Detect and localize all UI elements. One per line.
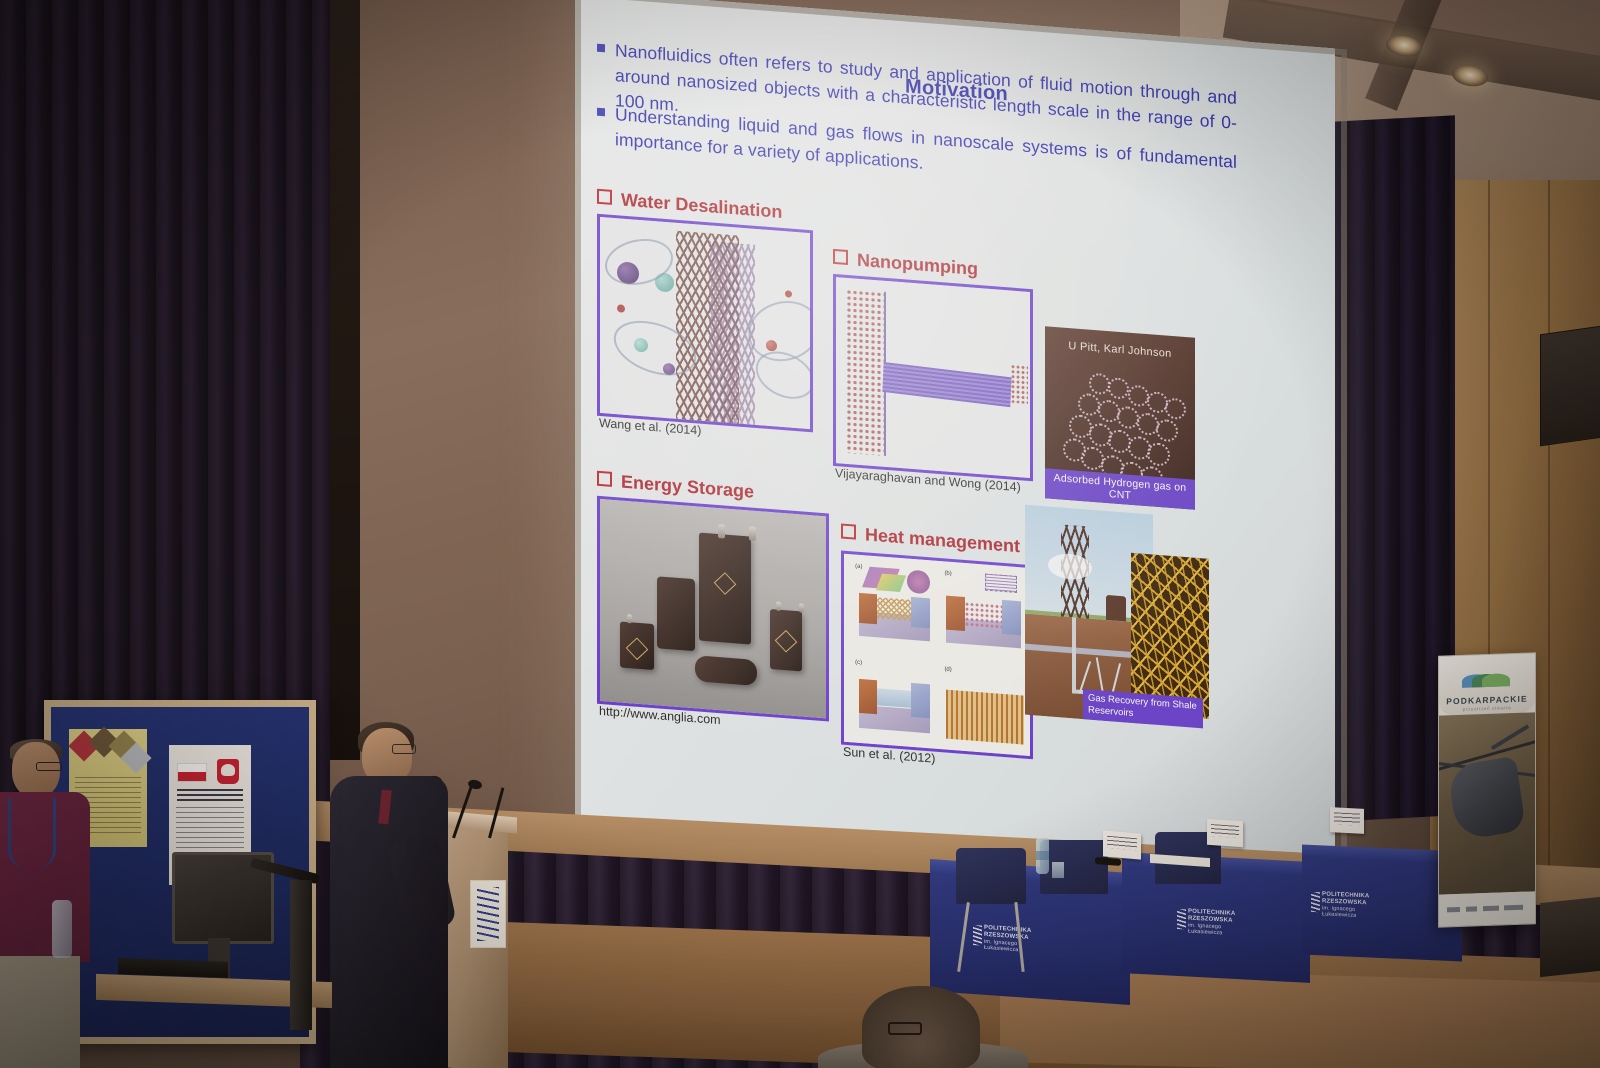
checkbox-square-icon (841, 523, 856, 539)
lectern-logo (470, 880, 506, 948)
figure-water-desalination (597, 214, 813, 433)
funding-notice-heading (177, 789, 243, 801)
checkbox-square-icon (597, 189, 612, 205)
lanyard (8, 798, 56, 868)
figure-energy-storage (597, 496, 829, 722)
supercapacitor (699, 533, 751, 645)
eyeglasses-icon (392, 744, 416, 754)
polish-flag-icon (177, 763, 207, 782)
table-logo: POLITECHNIKA RZESZOWSKA im. Ignacego Łuk… (1188, 909, 1234, 935)
equipment-pole (290, 880, 312, 1030)
panel-chair (956, 848, 1026, 904)
supercapacitor (620, 622, 654, 671)
attendee-legs (0, 956, 80, 1068)
banner-header: PODKARPACKIE przestrzeń otwarta (1439, 653, 1535, 716)
presentation-photo-scene: Motivation Nanofluidics often refers to … (0, 0, 1600, 1068)
checkbox-square-icon (597, 471, 612, 487)
panel-chair (1040, 840, 1108, 894)
supercapacitor (657, 576, 695, 651)
eyeglasses-icon (36, 762, 62, 771)
helicopter-illustration (1448, 755, 1527, 841)
floor-loudspeaker (1540, 897, 1600, 977)
figure-cnt-hydrogen: U Pitt, Karl Johnson (1045, 326, 1195, 510)
table-logo: POLITECHNIKA RZESZOWSKA im. Ignacego Łuk… (1322, 891, 1368, 917)
ion-particle (785, 290, 792, 298)
figure-nanopumping (833, 274, 1033, 481)
water-bottle (52, 900, 72, 958)
water-bottle (1036, 838, 1049, 874)
banner-photo (1439, 713, 1535, 895)
presenter (330, 728, 450, 1068)
screen-surface: Motivation Nanofluidics often refers to … (575, 0, 1335, 879)
name-card (1103, 830, 1141, 859)
supercapacitor (770, 609, 802, 671)
podkarpackie-logo-icon (1462, 668, 1512, 688)
particle-reservoir (846, 289, 887, 456)
eyeglasses-icon (888, 1022, 922, 1035)
bullet-square-icon (597, 44, 605, 53)
table-logo: POLITECHNIKA RZESZOWSKA im. Ignacego Łuk… (984, 925, 1030, 952)
projection-screen: Motivation Nanofluidics often refers to … (520, 0, 1380, 840)
bullet-square-icon (597, 108, 605, 117)
drinking-glass (1052, 862, 1064, 878)
figure-heat-management: (a) (b) (c) (841, 550, 1033, 759)
polish-eagle-emblem-icon (217, 759, 239, 784)
figure-caption-cnt-hydrogen: Adsorbed Hydrogen gas on CNT (1045, 468, 1195, 510)
name-card (1330, 807, 1364, 834)
checkbox-square-icon (833, 249, 848, 265)
ejected-particles (1011, 365, 1028, 404)
wall-loudspeaker (1540, 326, 1600, 447)
name-card (1207, 819, 1243, 848)
banner-sponsor-strip (1439, 891, 1535, 927)
podkarpackie-rollup-banner: PODKARPACKIE przestrzeń otwarta (1438, 652, 1536, 927)
figure-inset-title: U Pitt, Karl Johnson (1045, 338, 1195, 362)
ion-particle (617, 304, 625, 313)
supercapacitor (695, 656, 757, 687)
standing-attendee (0, 742, 104, 1068)
slide-canvas: Motivation Nanofluidics often refers to … (575, 0, 1335, 879)
